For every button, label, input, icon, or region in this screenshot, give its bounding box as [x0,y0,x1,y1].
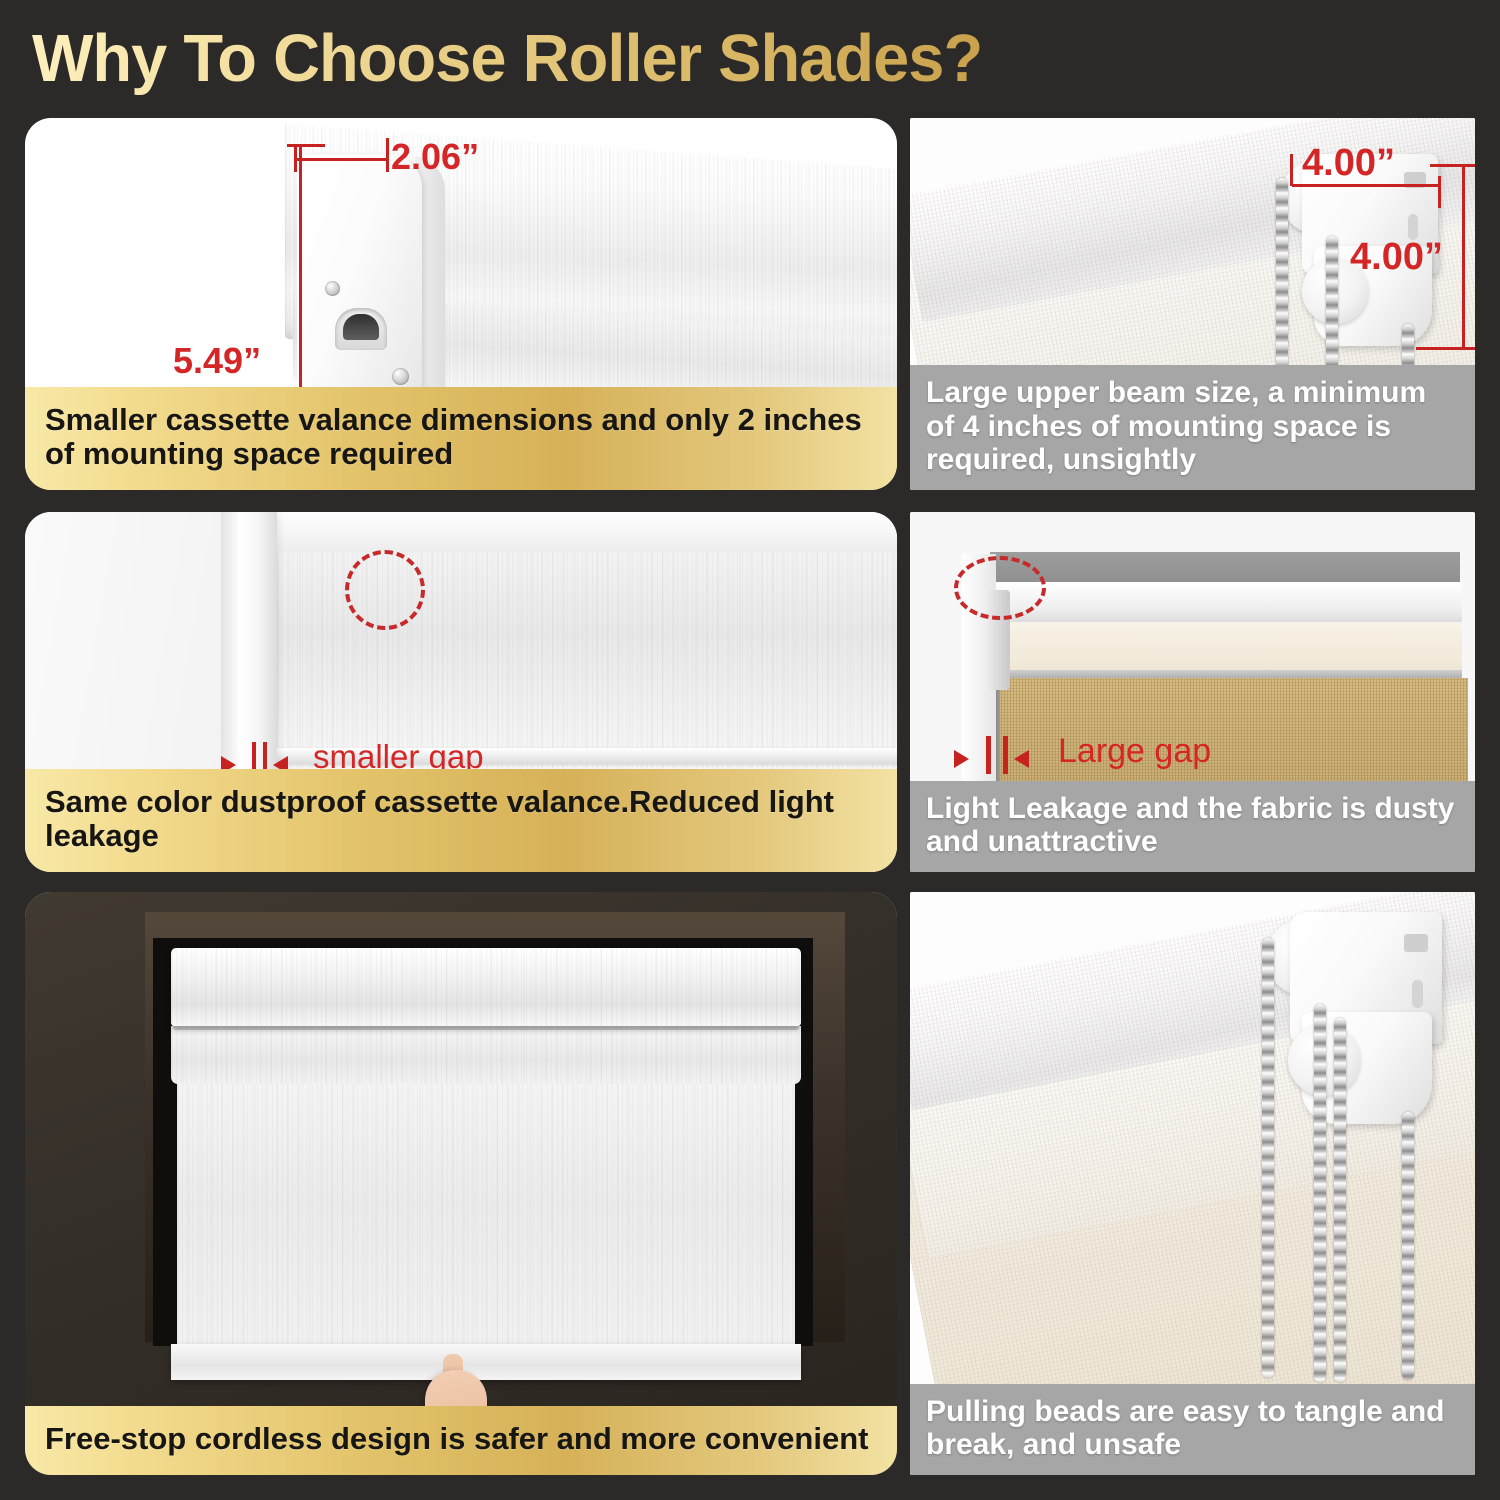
panel-pro-light-leakage: smaller gap Same color dustproof cassett… [25,512,897,872]
cassette-lower [171,1026,801,1084]
caption-text: Same color dustproof cassette valance.Re… [45,784,834,854]
dimension-label-height: 5.49” [173,340,261,382]
screw-icon [325,281,340,296]
bottom-rail [171,1344,801,1380]
dim-tick-top [1430,164,1475,167]
caption-text: Pulling beads are easy to tangle and bre… [926,1395,1444,1462]
detail-circle-highlight [345,550,425,630]
caption-con-light-leakage: Light Leakage and the fabric is dusty an… [910,781,1475,872]
panel-image-cordless-window [25,892,897,1475]
gap-arrow-right-icon [1014,750,1029,768]
dim-line-height [1462,164,1465,350]
panel-pro-cassette-size: 2.06” 5.49” Smaller cassette valance dim… [25,118,897,490]
detail-circle-highlight [954,556,1046,620]
dim-tick-left [1290,154,1293,186]
shade-fabric [177,1082,795,1352]
caption-text: Free-stop cordless design is safer and m… [45,1421,868,1456]
panel-con-light-leakage: Large gap Light Leakage and the fabric i… [910,512,1475,872]
gap-mark-b [1003,736,1008,774]
panel-con-beads: Pulling beads are easy to tangle and bre… [910,892,1475,1475]
caption-pro-cassette-size: Smaller cassette valance dimensions and … [25,387,897,490]
dim-tick-right [1438,176,1441,208]
fabric-texture [171,1026,801,1084]
bead-chain [1402,1112,1414,1380]
bead-chain [1314,1004,1326,1382]
window-frame-top [221,512,897,552]
page-title: Why To Choose Roller Shades? [32,20,982,97]
dim-tick-left [294,146,297,172]
gap-label: Large gap [1058,732,1211,771]
caption-con-beads: Pulling beads are easy to tangle and bre… [910,1384,1475,1475]
panel-con-beam-size: 4.00” 4.00” Large upper beam size, a min… [910,118,1475,490]
caption-pro-light-leakage: Same color dustproof cassette valance.Re… [25,769,897,872]
bead-chain [1262,938,1274,1378]
screw-icon [392,368,409,385]
gap-arrow-left-icon [954,750,969,768]
dimension-label-width: 2.06” [391,136,479,178]
fabric-texture [171,948,801,1026]
dimension-label-height: 4.00” [1350,236,1443,279]
dimension-label-width: 4.00” [1302,142,1395,185]
caption-text: Large upper beam size, a minimum of 4 in… [926,376,1426,476]
dim-tick-bottom [1416,347,1475,350]
dim-line-width [297,158,389,161]
gap-mark-a [986,736,991,774]
fabric-texture [177,1082,795,1352]
caption-pro-cordless: Free-stop cordless design is safer and m… [25,1406,897,1475]
beam-white-body [984,582,1462,626]
page-header: Why To Choose Roller Shades? [0,0,1500,112]
dim-tick-top [287,144,325,147]
valance-slot [335,308,387,350]
bead-chain [1334,1018,1346,1382]
caption-con-beam-size: Large upper beam size, a minimum of 4 in… [910,365,1475,490]
cassette-valance [171,948,801,1026]
bracket-notch-icon [1404,934,1428,952]
caption-text: Smaller cassette valance dimensions and … [45,402,862,472]
dim-tick-right [386,138,389,172]
panel-pro-cordless: Free-stop cordless design is safer and m… [25,892,897,1475]
beam-cream-fabric [990,622,1462,674]
caption-text: Light Leakage and the fabric is dusty an… [926,792,1454,859]
bracket-slot-icon [1412,980,1423,1008]
